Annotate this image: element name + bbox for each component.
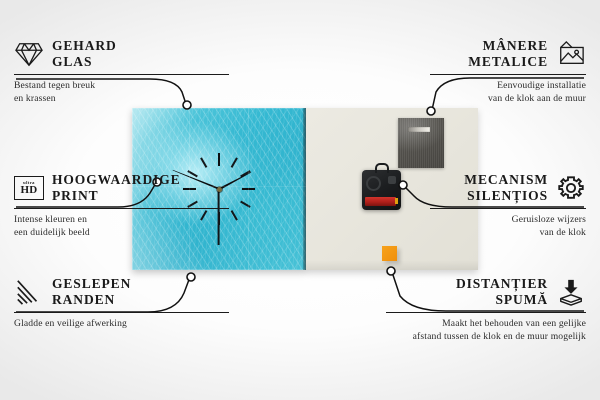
feature-rule: [14, 208, 229, 210]
hanger-slot: [408, 127, 430, 132]
metal-hanger-plate: [398, 118, 444, 168]
picture-hanging-icon: [556, 40, 586, 68]
clock-mechanism: [362, 170, 401, 210]
feature-description: Gladde en veilige afwerking: [14, 318, 229, 331]
feature-hoogwaardige-print: ultra HD HOOGWAARDIGE PRINT Intense kleu…: [14, 172, 229, 240]
mechanism-knob: [388, 176, 396, 184]
feature-title: MECANISM SILENȚIOS: [464, 172, 548, 205]
feature-rule: [14, 74, 229, 76]
gear-icon: [556, 174, 586, 202]
bevelled-edges-icon: [14, 278, 44, 306]
feature-head: GESLEPEN RANDEN: [14, 276, 229, 309]
feature-head: GEHARD GLAS: [14, 38, 229, 71]
feature-rule: [386, 312, 586, 314]
feature-gehard-glas: GEHARD GLAS Bestand tegen breuk en krass…: [14, 38, 229, 106]
feature-distantier-spuma: DISTANȚIER SPUMĂ Maakt het behouden van …: [386, 276, 586, 344]
ultra-hd-icon: ultra HD: [14, 176, 44, 200]
feature-manere-metalice: MÂNERE METALICE Eenvoudige installatie v…: [430, 38, 586, 106]
feature-title: MÂNERE METALICE: [468, 38, 548, 71]
feature-title: HOOGWAARDIGE PRINT: [52, 172, 181, 205]
battery: [365, 197, 396, 206]
feature-head: MECANISM SILENȚIOS: [430, 172, 586, 205]
feature-description: Eenvoudige installatie van de klok aan d…: [430, 80, 586, 106]
foam-spacer: [382, 246, 397, 261]
feature-head: DISTANȚIER SPUMĂ: [386, 276, 586, 309]
mechanism-dial: [366, 176, 381, 191]
feature-head: MÂNERE METALICE: [430, 38, 586, 71]
feature-title: GEHARD GLAS: [52, 38, 117, 71]
feature-rule: [14, 312, 229, 314]
feature-description: Geruisloze wijzers van de klok: [430, 214, 586, 240]
feature-mecanism-silentios: MECANISM SILENȚIOS Geruisloze wijzers va…: [430, 172, 586, 240]
spacer-arrow-icon: [556, 278, 586, 306]
feature-title: DISTANȚIER SPUMĂ: [456, 276, 548, 309]
mechanism-hanging-loop: [375, 163, 389, 173]
infographic-stage: GEHARD GLAS Bestand tegen breuk en krass…: [0, 0, 600, 400]
feature-description: Bestand tegen breuk en krassen: [14, 80, 229, 106]
feature-description: Intense kleuren en een duidelijk beeld: [14, 214, 229, 240]
diamond-icon: [14, 40, 44, 68]
feature-head: ultra HD HOOGWAARDIGE PRINT: [14, 172, 229, 205]
feature-title: GESLEPEN RANDEN: [52, 276, 131, 309]
feature-description: Maakt het behouden van een gelijke afsta…: [386, 318, 586, 344]
feature-geslepen-randen: GESLEPEN RANDEN Gladde en veilige afwerk…: [14, 276, 229, 331]
feature-rule: [430, 74, 586, 76]
feature-rule: [430, 208, 586, 210]
